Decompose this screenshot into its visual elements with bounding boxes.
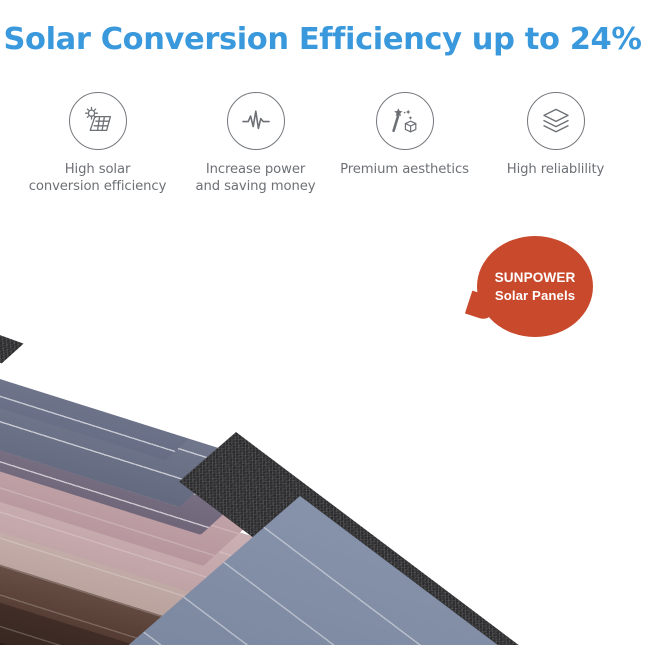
product-marketing-image: Solar Conversion Efficiency up to 24% bbox=[0, 0, 645, 645]
page-title: Solar Conversion Efficiency up to 24% bbox=[0, 22, 645, 57]
feature-label-line1: High solar bbox=[29, 162, 167, 179]
solar-panel-sun-icon bbox=[81, 104, 115, 138]
feature-item-high-reliability: High reliablility bbox=[480, 92, 632, 179]
feature-row: High solar conversion efficiency Increas… bbox=[0, 92, 645, 195]
power-waveform-icon bbox=[239, 104, 273, 138]
feature-label: Premium aesthetics bbox=[340, 162, 469, 179]
feature-label-line1: Increase power bbox=[196, 162, 316, 179]
icon-circle bbox=[227, 92, 285, 150]
feature-label: High solar conversion efficiency bbox=[29, 162, 167, 195]
badge-subtitle: Solar Panels bbox=[495, 287, 575, 304]
icon-circle bbox=[69, 92, 127, 150]
badge-brand: SUNPOWER bbox=[495, 269, 576, 287]
status-badge: SUNPOWER Solar Panels bbox=[477, 236, 593, 337]
icon-circle bbox=[527, 92, 585, 150]
icon-circle bbox=[376, 92, 434, 150]
badge-text: SUNPOWER Solar Panels bbox=[477, 236, 593, 337]
feature-label-line1: High reliablility bbox=[507, 162, 604, 179]
stacked-layers-icon bbox=[539, 104, 573, 138]
feature-item-increase-power-and-saving-money: Increase power and saving money bbox=[182, 92, 330, 195]
feature-label: High reliablility bbox=[507, 162, 604, 179]
feature-item-high-solar-conversion-efficiency: High solar conversion efficiency bbox=[14, 92, 182, 195]
feature-label-line1: Premium aesthetics bbox=[340, 162, 469, 179]
feature-label-line2: conversion efficiency bbox=[29, 179, 167, 196]
magic-wand-sparkle-icon bbox=[388, 104, 422, 138]
feature-item-premium-aesthetics: Premium aesthetics bbox=[330, 92, 480, 179]
feature-label-line2: and saving money bbox=[196, 179, 316, 196]
feature-label: Increase power and saving money bbox=[196, 162, 316, 195]
